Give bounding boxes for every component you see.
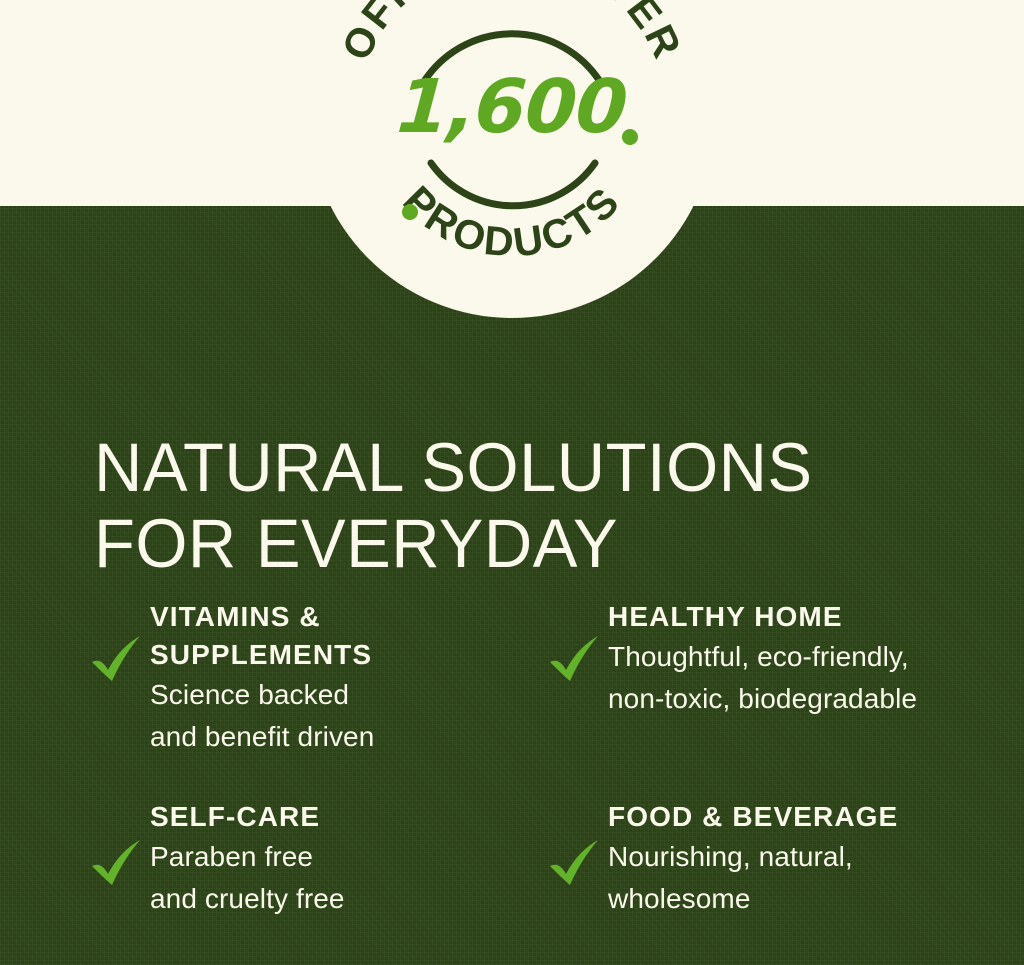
headline-line-2: FOR EVERYDAY xyxy=(94,506,948,582)
page-title: NATURAL SOLUTIONS FOR EVERYDAY xyxy=(94,430,948,582)
badge-graphics: OFFERING OVER PRODUCTS xyxy=(309,0,715,318)
feature-title: FOOD & BEVERAGE xyxy=(608,798,898,836)
feature-title: HEALTHY HOME xyxy=(608,598,917,636)
offering-badge: OFFERING OVER PRODUCTS 1,600 xyxy=(309,0,715,318)
check-icon xyxy=(86,832,150,896)
feature-text: HEALTHY HOME Thoughtful, eco-friendly, n… xyxy=(608,592,917,720)
check-icon xyxy=(544,832,608,896)
badge-product-count: 1,600 xyxy=(306,70,717,144)
feature-text: VITAMINS & SUPPLEMENTS Science backed an… xyxy=(150,592,374,758)
feature-item-food-beverage: FOOD & BEVERAGE Nourishing, natural, who… xyxy=(544,792,996,920)
feature-title: SELF-CARE xyxy=(150,798,345,836)
feature-description: Science backed and benefit driven xyxy=(150,674,374,758)
feature-text: SELF-CARE Paraben free and cruelty free xyxy=(150,792,345,920)
feature-description: Thoughtful, eco-friendly, non-toxic, bio… xyxy=(608,636,917,720)
badge-arc-lower xyxy=(431,163,595,206)
feature-item-self-care: SELF-CARE Paraben free and cruelty free xyxy=(86,792,538,920)
promo-poster: OFFERING OVER PRODUCTS 1,600 NATURAL SOL… xyxy=(0,0,1024,965)
badge-dot-left-icon xyxy=(402,204,418,220)
feature-grid: VITAMINS & SUPPLEMENTS Science backed an… xyxy=(86,592,996,920)
badge-bottom-arc-label: PRODUCTS xyxy=(394,177,629,266)
check-icon xyxy=(544,628,608,692)
feature-title: VITAMINS & SUPPLEMENTS xyxy=(150,598,374,674)
feature-description: Paraben free and cruelty free xyxy=(150,836,345,920)
check-icon xyxy=(86,628,150,692)
headline-line-1: NATURAL SOLUTIONS xyxy=(94,430,948,506)
feature-item-vitamins-supplements: VITAMINS & SUPPLEMENTS Science backed an… xyxy=(86,592,538,792)
feature-description: Nourishing, natural, wholesome xyxy=(608,836,898,920)
feature-text: FOOD & BEVERAGE Nourishing, natural, who… xyxy=(608,792,898,920)
feature-item-healthy-home: HEALTHY HOME Thoughtful, eco-friendly, n… xyxy=(544,592,996,792)
